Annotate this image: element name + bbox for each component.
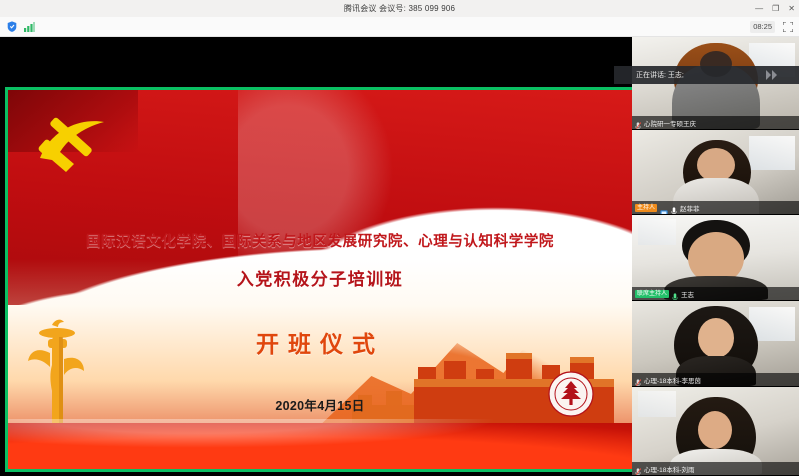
participant-name-bar-4: 心理-18本科-李思茵	[632, 373, 799, 386]
active-speaker-label: 正在讲话: 王志;	[636, 70, 684, 80]
slide-date: 2020年4月15日	[8, 395, 632, 414]
participant-name-bar-1: 心院研一专硕王庆	[632, 116, 799, 129]
head-shape	[698, 411, 732, 449]
signal-bars-icon[interactable]	[24, 22, 35, 32]
participant-name-bar-5: 心理-18本科-刘雨	[632, 462, 799, 475]
meeting-window: 腾讯会议 会议号: 385 099 906 — ❐ ✕	[0, 0, 799, 476]
slide-base-highlight	[8, 419, 632, 449]
toolbar-right-group: 08:25	[750, 21, 793, 33]
participant-rail[interactable]: 心院研一专硕王庆 主持人	[632, 37, 799, 476]
meeting-toolbar: 08:25	[0, 17, 799, 37]
mic-muted-icon	[635, 118, 641, 127]
participant-name-bar-3: 联席主持人 王志	[632, 287, 799, 300]
participant-name-3: 王志	[681, 289, 694, 299]
expand-icon[interactable]	[783, 22, 793, 32]
close-button[interactable]: ✕	[788, 5, 795, 13]
participant-name-2: 赵菲菲	[680, 203, 700, 213]
cohost-badge: 联席主持人	[635, 290, 669, 298]
screen-share-icon	[660, 204, 668, 211]
slide-heading-line2: 入党积极分子培训班	[8, 265, 632, 290]
host-badge: 主持人	[635, 204, 657, 212]
mic-muted-icon	[635, 464, 641, 473]
mic-muted-icon	[635, 375, 641, 384]
maximize-button[interactable]: ❐	[772, 5, 779, 13]
mic-icon	[671, 203, 677, 212]
participant-tile-3[interactable]: 联席主持人 王志	[632, 215, 799, 301]
participant-name-1: 心院研一专硕王庆	[644, 118, 696, 128]
meeting-clock: 08:25	[750, 21, 775, 33]
toolbar-left-group	[0, 21, 35, 32]
slide-title-ceremony: 开班仪式	[8, 325, 632, 359]
slide-heading-line1: 国际汉语文化学院、国际关系与地区发展研究院、心理与认知科学学院	[8, 230, 632, 251]
chevron-left-icon[interactable]	[766, 70, 777, 80]
title-bar: 腾讯会议 会议号: 385 099 906 — ❐ ✕	[0, 0, 799, 17]
participant-name-5: 心理-18本科-刘雨	[644, 464, 695, 474]
slide-lower-scenery	[8, 259, 632, 469]
active-speaker-banner[interactable]: 正在讲话: 王志;	[614, 66, 799, 84]
participant-name-4: 心理-18本科-李思茵	[644, 375, 701, 385]
window-title: 腾讯会议 会议号: 385 099 906	[344, 3, 455, 14]
participant-tile-5[interactable]: 心理-18本科-刘雨	[632, 387, 799, 476]
participant-tile-4[interactable]: 心理-18本科-李思茵	[632, 301, 799, 387]
presentation-slide: 国际汉语文化学院、国际关系与地区发展研究院、心理与认知科学学院 入党积极分子培训…	[8, 90, 632, 469]
head-shape	[697, 148, 735, 182]
shared-content-stage[interactable]: 国际汉语文化学院、国际关系与地区发展研究院、心理与认知科学学院 入党积极分子培训…	[0, 37, 632, 476]
minimize-button[interactable]: —	[755, 5, 763, 13]
shield-icon[interactable]	[7, 21, 17, 32]
head-shape	[698, 318, 734, 358]
participant-tile-2[interactable]: 主持人 赵菲菲	[632, 130, 799, 215]
mic-icon	[672, 289, 678, 298]
window-controls: — ❐ ✕	[755, 0, 795, 17]
participant-name-bar-2: 主持人 赵菲菲	[632, 201, 799, 214]
hammer-sickle-icon	[30, 112, 116, 190]
